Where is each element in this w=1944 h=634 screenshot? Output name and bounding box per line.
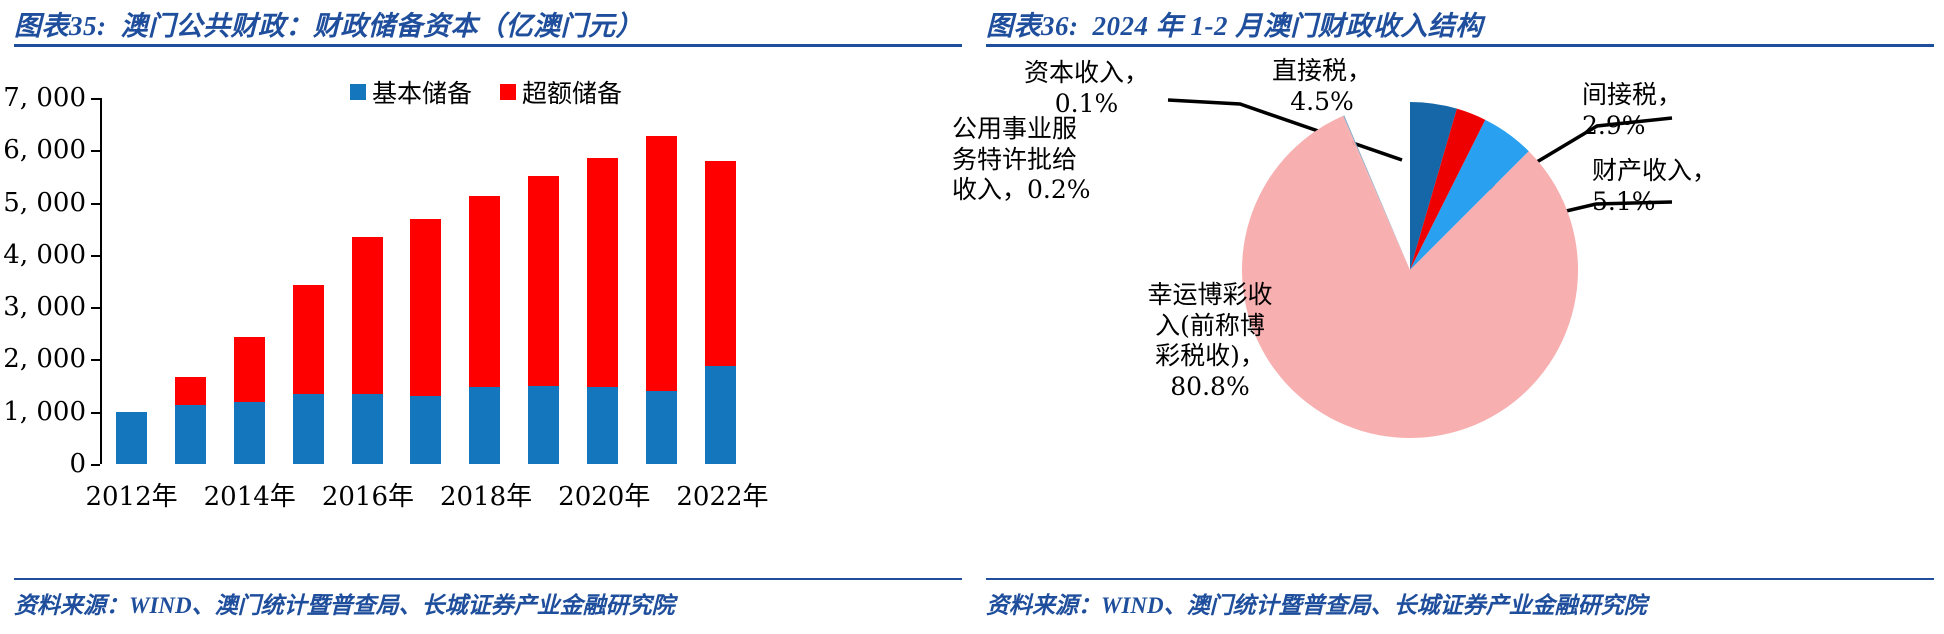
bar-stack[interactable]: [410, 98, 441, 464]
x-axis-labels: 2012年2014年2016年2018年2020年2022年: [102, 476, 752, 516]
pie-label-capital-income: 资本收入， 0.1%: [1024, 58, 1149, 119]
exhibit-36-title: 图表36:2024 年 1-2 月澳门财政收入结构: [986, 4, 1934, 43]
exhibit-36-panel: 图表36:2024 年 1-2 月澳门财政收入结构 资本收入， 0.1% 公用事…: [972, 0, 1944, 634]
bar-slot: [573, 98, 632, 464]
x-axis-tick-label: 2012年: [85, 476, 177, 513]
x-axis-tick-label: 2014年: [204, 476, 296, 513]
x-axis-tick-label: 2016年: [322, 476, 414, 513]
bar-segment-basic-reserve: [528, 386, 559, 464]
exhibit-35-title: 图表35:澳门公共财政：财政储备资本（亿澳门元）: [14, 4, 962, 43]
bar-segment-basic-reserve: [705, 366, 736, 464]
pie-label-gaming-income: 幸运博彩收 入(前称博 彩税收)， 80.8%: [1120, 280, 1300, 402]
y-axis-tick-label: 2, 000: [3, 344, 86, 374]
y-axis-tick: [91, 203, 100, 205]
bar-slot: [161, 98, 220, 464]
exhibit-36-source-rule: [986, 578, 1934, 580]
bar-segment-basic-reserve: [175, 405, 206, 464]
exhibit-35-title-text: 澳门公共财政：财政储备资本（亿澳门元）: [121, 11, 644, 41]
y-axis-tick: [91, 412, 100, 414]
bar-segment-basic-reserve: [410, 396, 441, 464]
y-axis-tick-label: 7, 000: [3, 83, 86, 113]
bar-segment-excess-reserve: [293, 285, 324, 394]
bar-segment-basic-reserve: [587, 387, 618, 464]
page-root: 图表35:澳门公共财政：财政储备资本（亿澳门元） 基本储备 超额储备 01, 0…: [0, 0, 1944, 634]
y-axis-tick: [91, 464, 100, 466]
bar-segment-excess-reserve: [528, 176, 559, 386]
financial-reserve-bar-chart: 基本储备 超额储备 01, 0002, 0003, 0004, 0005, 00…: [0, 52, 972, 532]
y-axis-tick-label: 5, 000: [3, 188, 86, 218]
y-axis-tick-label: 6, 000: [3, 135, 86, 165]
exhibit-36-title-text: 2024 年 1-2 月澳门财政收入结构: [1093, 11, 1483, 41]
pie-label-indirect-tax: 间接税， 2.9%: [1582, 80, 1682, 141]
bar-segment-basic-reserve: [116, 412, 147, 464]
bar-slot: [102, 98, 161, 464]
bar-segment-excess-reserve: [587, 158, 618, 387]
y-axis-tick-label: 0: [69, 449, 86, 479]
bar-segment-basic-reserve: [646, 391, 677, 464]
y-axis-tick: [91, 150, 100, 152]
y-axis-tick-label: 3, 000: [3, 292, 86, 322]
exhibit-35-source: 资料来源：WIND、澳门统计暨普查局、长城证券产业金融研究院: [14, 586, 675, 620]
bar-stack[interactable]: [469, 98, 500, 464]
exhibit-35-title-rule: [14, 44, 962, 47]
x-axis-tick-label: 2018年: [440, 476, 532, 513]
bar-segment-excess-reserve: [410, 219, 441, 396]
exhibit-35-panel: 图表35:澳门公共财政：财政储备资本（亿澳门元） 基本储备 超额储备 01, 0…: [0, 0, 972, 634]
y-axis-tick: [91, 359, 100, 361]
bar-chart-plot-area: 01, 0002, 0003, 0004, 0005, 0006, 0007, …: [100, 98, 750, 464]
bar-stack[interactable]: [528, 98, 559, 464]
bar-slot: [279, 98, 338, 464]
bar-stack[interactable]: [646, 98, 677, 464]
exhibit-36-source: 资料来源：WIND、澳门统计暨普查局、长城证券产业金融研究院: [986, 586, 1647, 620]
exhibit-36-number: 图表36:: [986, 11, 1079, 41]
y-axis-tick: [91, 98, 100, 100]
bar-stack[interactable]: [293, 98, 324, 464]
exhibit-35-number: 图表35:: [14, 11, 107, 41]
bar-slot: [455, 98, 514, 464]
bar-segment-excess-reserve: [705, 161, 736, 366]
bar-slot: [632, 98, 691, 464]
bar-segment-basic-reserve: [469, 387, 500, 464]
bar-stack[interactable]: [587, 98, 618, 464]
exhibit-35-source-rule: [14, 578, 962, 580]
bar-segment-basic-reserve: [352, 394, 383, 464]
pie-label-direct-tax: 直接税， 4.5%: [1272, 56, 1372, 117]
fiscal-revenue-pie-chart: 资本收入， 0.1% 公用事业服 务特许批给 收入，0.2% 直接税， 4.5%…: [972, 52, 1944, 532]
pie-label-utility-concession-income: 公用事业服 务特许批给 收入，0.2%: [952, 114, 1122, 206]
bar-slot: [691, 98, 750, 464]
bar-segment-excess-reserve: [646, 136, 677, 391]
bar-segment-excess-reserve: [352, 237, 383, 394]
bar-stack[interactable]: [352, 98, 383, 464]
bar-segment-excess-reserve: [234, 337, 265, 401]
x-axis-tick-label: 2022年: [676, 476, 768, 513]
bar-stack[interactable]: [234, 98, 265, 464]
x-axis-tick-label: 2020年: [558, 476, 650, 513]
bar-slot: [514, 98, 573, 464]
y-axis-tick-label: 1, 000: [3, 397, 86, 427]
bar-stack[interactable]: [116, 98, 147, 464]
bar-series-container: [102, 98, 750, 464]
bar-segment-excess-reserve: [469, 196, 500, 386]
bar-segment-excess-reserve: [175, 377, 206, 405]
exhibit-36-title-rule: [986, 44, 1934, 47]
y-axis-tick-label: 4, 000: [3, 240, 86, 270]
pie-label-property-income: 财产收入， 5.1%: [1592, 156, 1717, 217]
bar-stack[interactable]: [705, 98, 736, 464]
y-axis-tick: [91, 255, 100, 257]
bar-slot: [397, 98, 456, 464]
bar-segment-basic-reserve: [293, 394, 324, 464]
bar-stack[interactable]: [175, 98, 206, 464]
bar-segment-basic-reserve: [234, 402, 265, 464]
bar-slot: [220, 98, 279, 464]
y-axis-tick: [91, 307, 100, 309]
bar-slot: [338, 98, 397, 464]
